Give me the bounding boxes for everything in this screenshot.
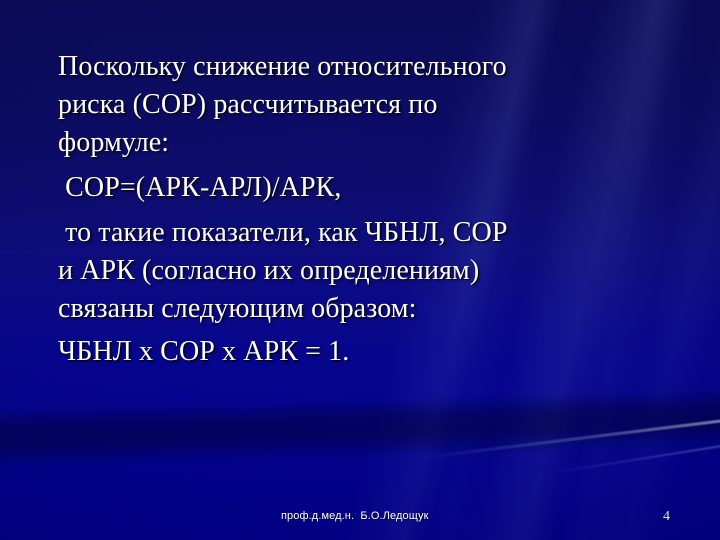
paragraph-spacer-1 [58, 162, 668, 169]
formula-cor-definition: СОР=(АРК-АРЛ)/АРК, [58, 169, 668, 207]
body-line-6: связаны следующим образом: [58, 290, 668, 328]
presentation-slide: Поскольку снижение относительного риска … [0, 0, 720, 540]
body-line-4: то такие показатели, как ЧБНЛ, СОР [58, 214, 668, 252]
slide-body-text: Поскольку снижение относительного риска … [58, 48, 668, 371]
body-line-2: риска (СОР) рассчитывается по [58, 86, 668, 124]
paragraph-spacer-2 [58, 207, 668, 214]
footer-page-number: 4 [663, 509, 670, 525]
footer-author: проф.д.мед.н. Б.О.Ледощук [281, 510, 429, 522]
formula-nnt-relation: ЧБНЛ x СОР x АРК = 1. [58, 333, 668, 371]
body-line-5: и АРК (согласно их определениям) [58, 252, 668, 290]
body-line-1: Поскольку снижение относительного [58, 48, 668, 86]
body-line-3: формуле: [58, 124, 668, 162]
